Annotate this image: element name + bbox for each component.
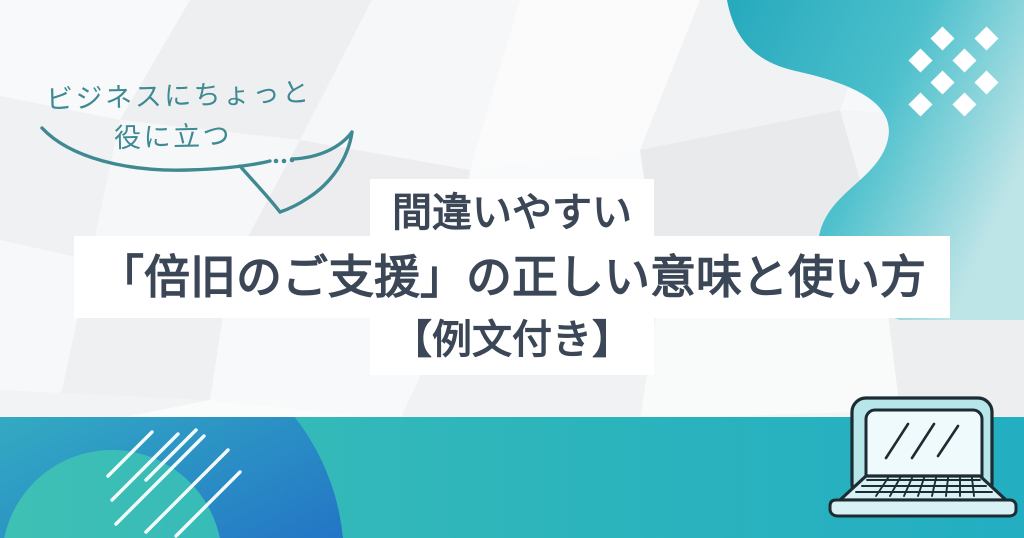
catch-copy-line-1: ビジネスにちょっと <box>46 70 312 116</box>
thumbnail-canvas: ビジネスにちょっと 役に立つ 間違いやすい 「倍旧のご支援」の正しい意味と使い方… <box>0 0 1024 538</box>
catch-copy-line-2: 役に立つ <box>114 114 233 155</box>
page-title: 間違いやすい 「倍旧のご支援」の正しい意味と使い方 【例文付き】 <box>0 182 1024 371</box>
title-line-1: 間違いやすい <box>0 182 1024 242</box>
title-line-3: 【例文付き】 <box>0 310 1024 371</box>
catch-copy: ビジネスにちょっと 役に立つ <box>30 52 360 162</box>
title-line-3-text: 【例文付き】 <box>370 305 654 375</box>
title-line-2: 「倍旧のご支援」の正しい意味と使い方 <box>0 242 1024 310</box>
